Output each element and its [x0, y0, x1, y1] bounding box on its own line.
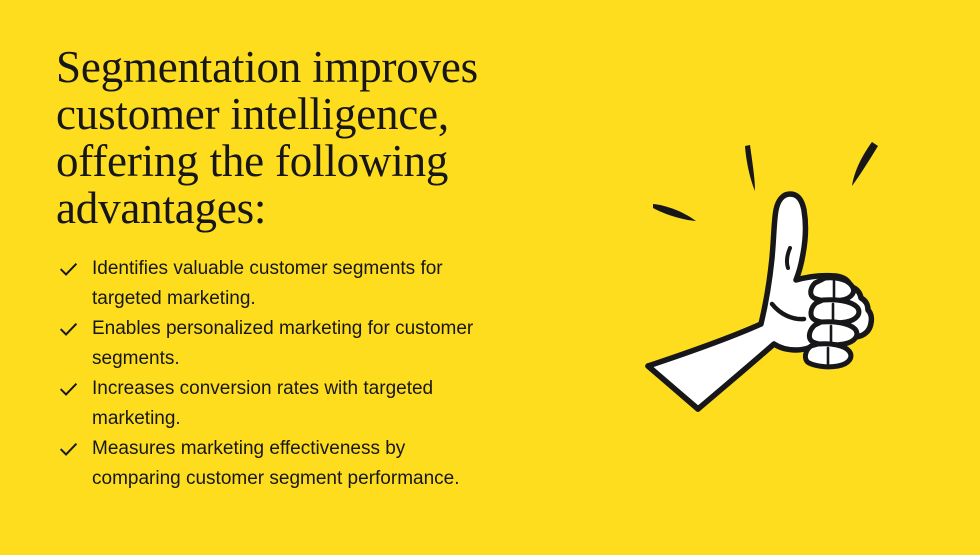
check-icon	[59, 260, 78, 279]
advantages-list: Identifies valuable customer segments fo…	[56, 254, 596, 493]
thumbs-up-illustration	[620, 128, 920, 428]
spark-marks	[653, 142, 878, 221]
page-title: Segmentation improves customer intellige…	[56, 44, 596, 232]
finger-third	[809, 322, 857, 345]
list-item: Measures marketing effectiveness by comp…	[56, 434, 492, 493]
check-icon	[59, 320, 78, 339]
list-item: Identifies valuable customer segments fo…	[56, 254, 492, 313]
check-icon	[59, 380, 78, 399]
list-item: Increases conversion rates with targeted…	[56, 374, 492, 433]
list-item-label: Measures marketing effectiveness by comp…	[92, 438, 460, 489]
slide-canvas: Segmentation improves customer intellige…	[0, 0, 980, 555]
list-item-label: Enables personalized marketing for custo…	[92, 318, 473, 369]
list-item-label: Identifies valuable customer segments fo…	[92, 258, 443, 309]
check-icon	[59, 440, 78, 459]
list-item: Enables personalized marketing for custo…	[56, 314, 492, 373]
spark-mark-right	[852, 142, 878, 186]
spark-mark-left	[653, 204, 696, 221]
spark-mark-center	[745, 145, 755, 191]
hand-shape	[648, 194, 871, 409]
list-item-label: Increases conversion rates with targeted…	[92, 378, 433, 429]
text-column: Segmentation improves customer intellige…	[56, 44, 596, 494]
